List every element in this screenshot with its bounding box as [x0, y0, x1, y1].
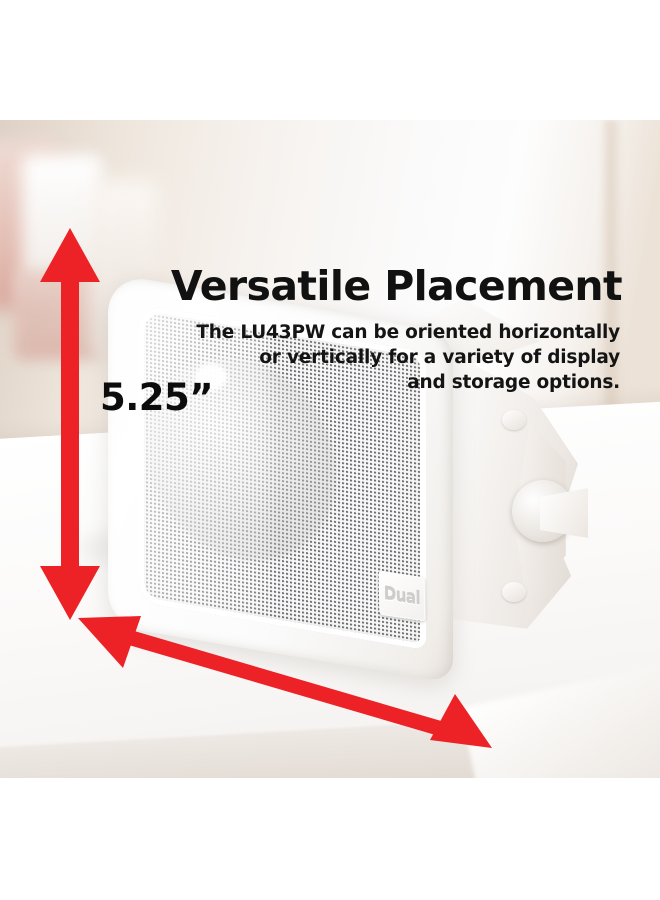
speaker-foot — [502, 582, 526, 602]
product-infographic: Dual Versatile Placement The LU43PW can … — [0, 0, 660, 900]
speaker-foot — [502, 410, 526, 430]
brand-badge-label: Dual — [384, 583, 421, 609]
product-photo: Dual Versatile Placement The LU43PW can … — [0, 120, 660, 778]
brand-badge: Dual — [379, 570, 426, 621]
page-title: Versatile Placement — [20, 263, 622, 309]
subcopy-line-2: or vertically for a variety of display — [120, 345, 620, 370]
subcopy-line-1: The LU43PW can be oriented horizontally — [120, 320, 620, 345]
height-dimension-label: 5.25” — [100, 376, 213, 419]
